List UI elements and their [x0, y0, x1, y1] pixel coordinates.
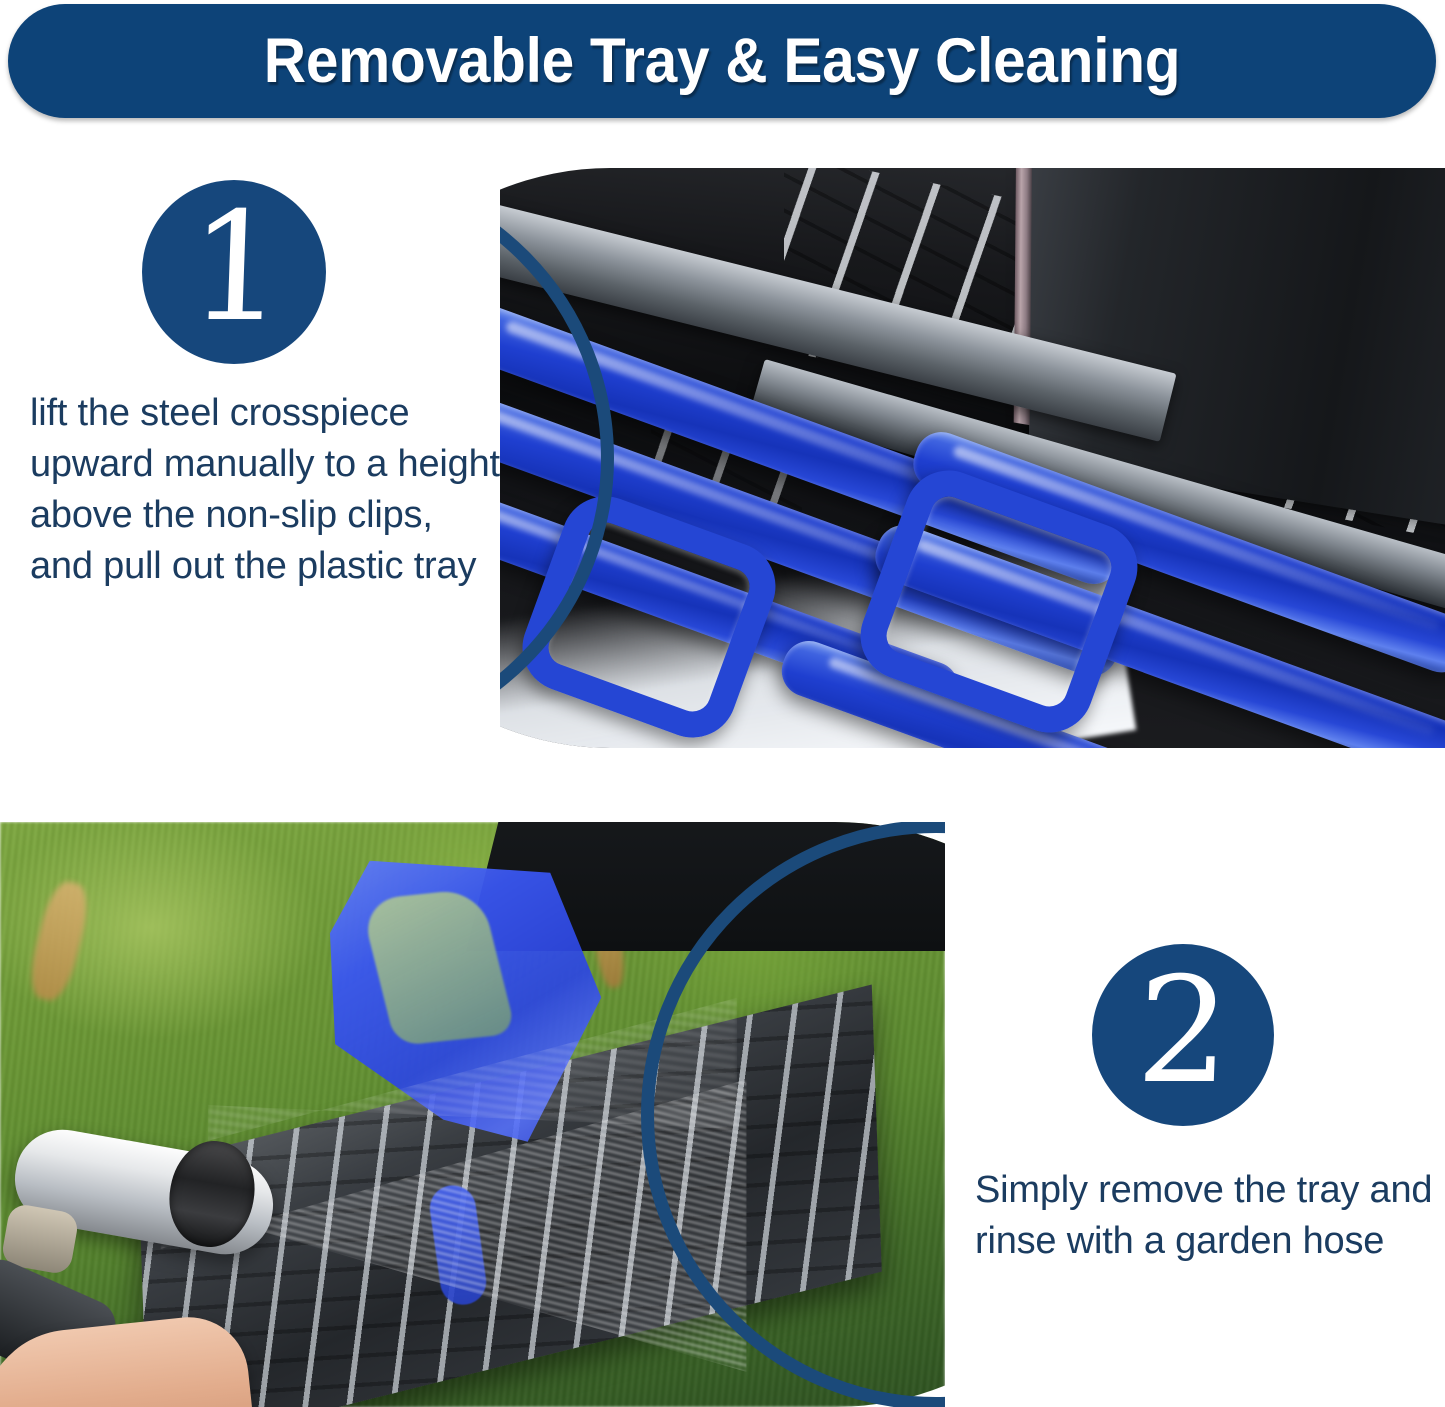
step-2-description: Simply remove the tray and rinse with a …: [975, 1165, 1445, 1267]
step-2-number: 2: [1134, 958, 1232, 1104]
page-title: Removable Tray & Easy Cleaning: [58, 4, 1386, 118]
step-2-photo-clip: [0, 822, 945, 1407]
step-1-photo: [500, 168, 1445, 748]
header-banner: Removable Tray & Easy Cleaning: [8, 4, 1436, 118]
step-1-number: 1: [187, 193, 288, 343]
step-1-badge: 1: [142, 180, 326, 364]
step-2-photo: [0, 822, 945, 1407]
step-1-description: lift the steel crosspiece upward manuall…: [30, 388, 500, 592]
step-2-badge: 2: [1092, 944, 1274, 1126]
step-1-photo-clip: [500, 168, 1445, 748]
